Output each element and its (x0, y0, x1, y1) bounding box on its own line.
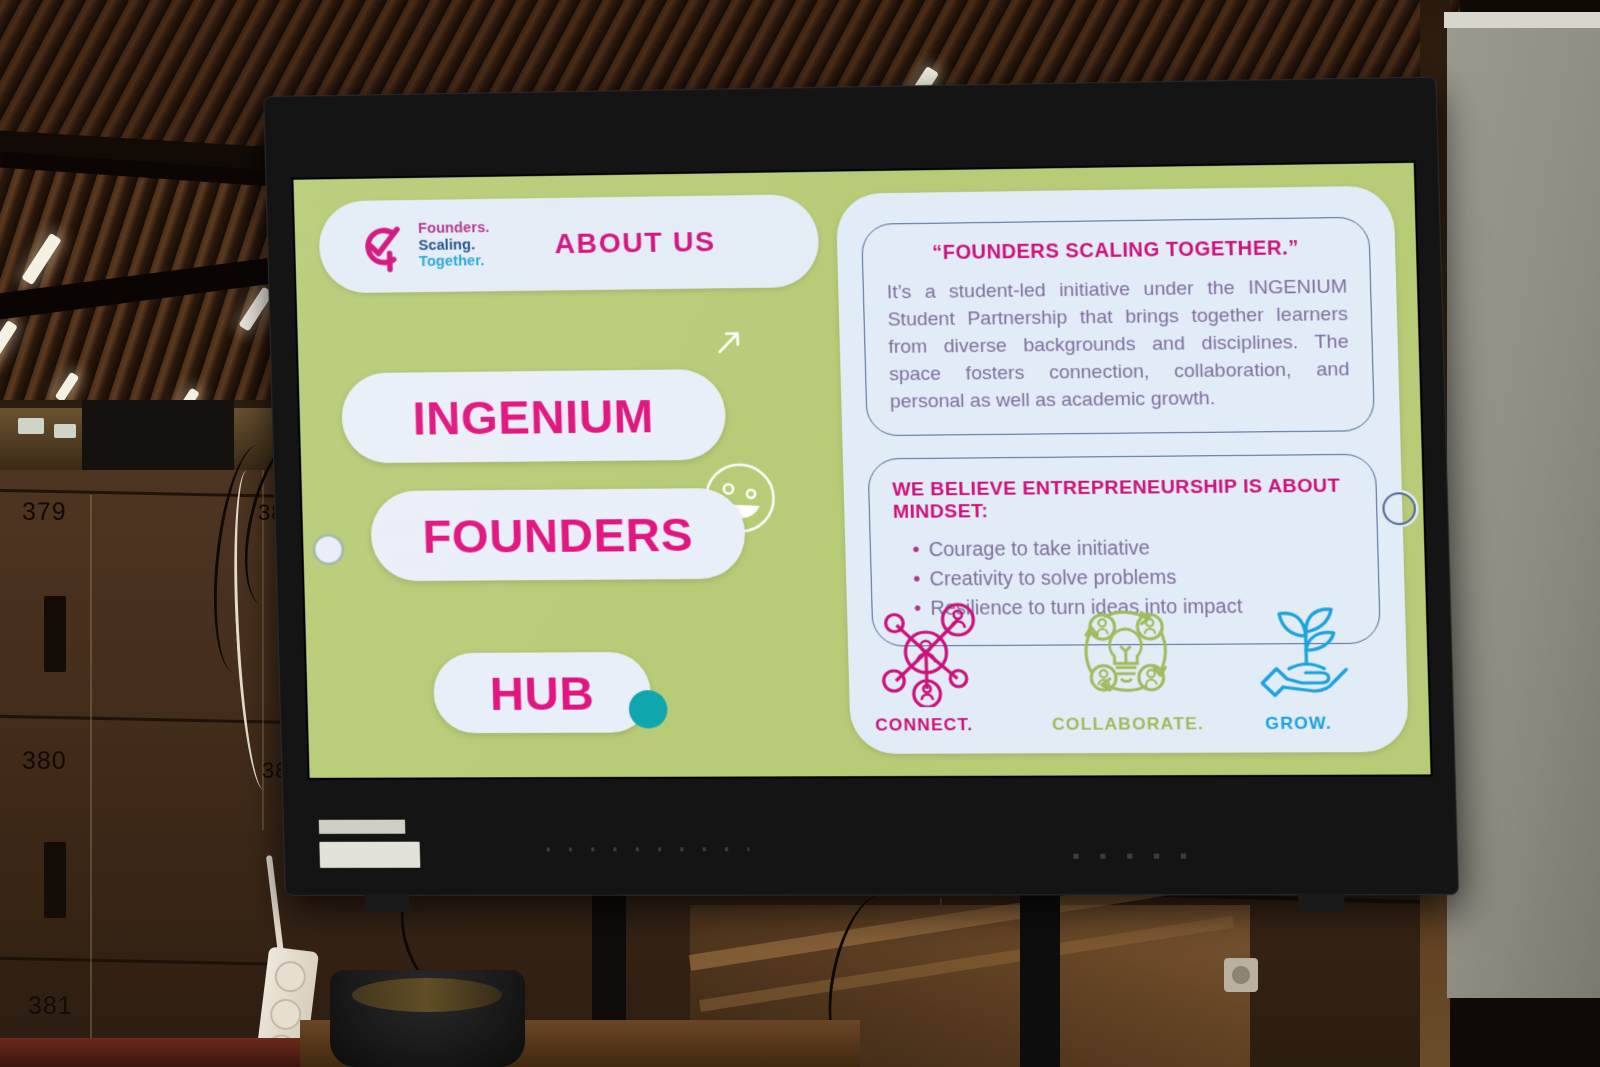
far-light-speck (54, 424, 76, 438)
logo-line-3: Together. (419, 254, 491, 272)
quote-box: “FOUNDERS SCALING TOGETHER.” It’s a stud… (861, 217, 1375, 436)
hand-plant-growth-icon (1239, 595, 1354, 706)
pill-ingenium-label: INGENIUM (412, 387, 655, 445)
display-foot (365, 894, 410, 912)
interactive-display[interactable]: Founders. Scaling. Together. ABOUT US (263, 77, 1459, 896)
page-title: ABOUT US (554, 226, 716, 260)
bezel-button-row[interactable] (547, 847, 750, 851)
quote-body: It’s a student-led initiative under the … (887, 274, 1351, 416)
wall-power-socket[interactable] (1224, 958, 1258, 992)
far-light-speck (18, 418, 44, 434)
power-strip-socket[interactable] (273, 959, 308, 994)
pill-hub[interactable]: HUB (433, 652, 652, 733)
wall-mounted-black-box (82, 400, 234, 478)
presentation-slide: Founders. Scaling. Together. ABOUT US (293, 163, 1430, 778)
slide-drag-handle-right[interactable] (1382, 492, 1416, 525)
value-icons-row: CONNECT. (872, 595, 1384, 736)
accent-dot (628, 690, 668, 728)
locker-number: 379 (22, 498, 67, 527)
locker-number: 381 (28, 992, 73, 1021)
arrow-up-right-icon (710, 324, 748, 361)
pill-founders-label: FOUNDERS (422, 506, 694, 563)
mindset-title: WE BELIEVE ENTREPRENEURSHIP IS ABOUT MIN… (892, 475, 1354, 524)
bezel-sticker (319, 820, 406, 834)
pill-ingenium[interactable]: INGENIUM (341, 369, 727, 463)
bezel-label (319, 842, 420, 868)
value-connect-label: CONNECT. (875, 715, 974, 736)
value-grow-label: GROW. (1265, 713, 1332, 734)
check-circle-logo-icon (353, 220, 407, 273)
info-card: “FOUNDERS SCALING TOGETHER.” It’s a stud… (836, 186, 1409, 754)
locker-handle[interactable] (44, 842, 66, 918)
value-collaborate: COLLABORATE. (1041, 596, 1212, 735)
network-nodes-icon (872, 597, 986, 707)
display-stand-leg (1020, 880, 1060, 1067)
locker-handle[interactable] (44, 596, 66, 672)
slide-header-pill: Founders. Scaling. Together. ABOUT US (318, 194, 820, 293)
slide-right-column: “FOUNDERS SCALING TOGETHER.” It’s a stud… (836, 186, 1409, 754)
grey-panel-top-rail (1444, 12, 1600, 28)
slide-drag-handle-left[interactable] (315, 536, 342, 562)
collaboration-lightbulb-icon (1069, 596, 1184, 706)
logo-line-2: Scaling. (418, 237, 490, 255)
power-strip-socket[interactable] (268, 997, 303, 1032)
slide-left-column: Founders. Scaling. Together. ABOUT US (318, 194, 833, 756)
red-table-edge (0, 1038, 340, 1067)
locker-seam-vertical (90, 495, 92, 1067)
brand-logo: Founders. Scaling. Together. (353, 219, 491, 273)
brand-logo-text: Founders. Scaling. Together. (418, 220, 491, 272)
logo-line-1: Founders. (418, 220, 490, 238)
grey-wall-panel (1447, 18, 1600, 998)
value-connect: CONNECT. (872, 597, 1042, 736)
value-grow: GROW. (1211, 595, 1384, 735)
basket-contents (352, 978, 502, 1012)
pill-founders[interactable]: FOUNDERS (370, 488, 746, 581)
mindset-bullet: Courage to take initiative (912, 532, 1355, 565)
locker-number: 380 (22, 747, 67, 776)
mindset-bullet: Creativity to solve problems (913, 562, 1356, 594)
quote-title: “FOUNDERS SCALING TOGETHER.” (886, 236, 1347, 266)
display-foot (1298, 893, 1344, 911)
pill-hub-label: HUB (489, 665, 595, 721)
value-collaborate-label: COLLABORATE. (1052, 714, 1204, 735)
bezel-indicator-dots (1073, 854, 1197, 859)
